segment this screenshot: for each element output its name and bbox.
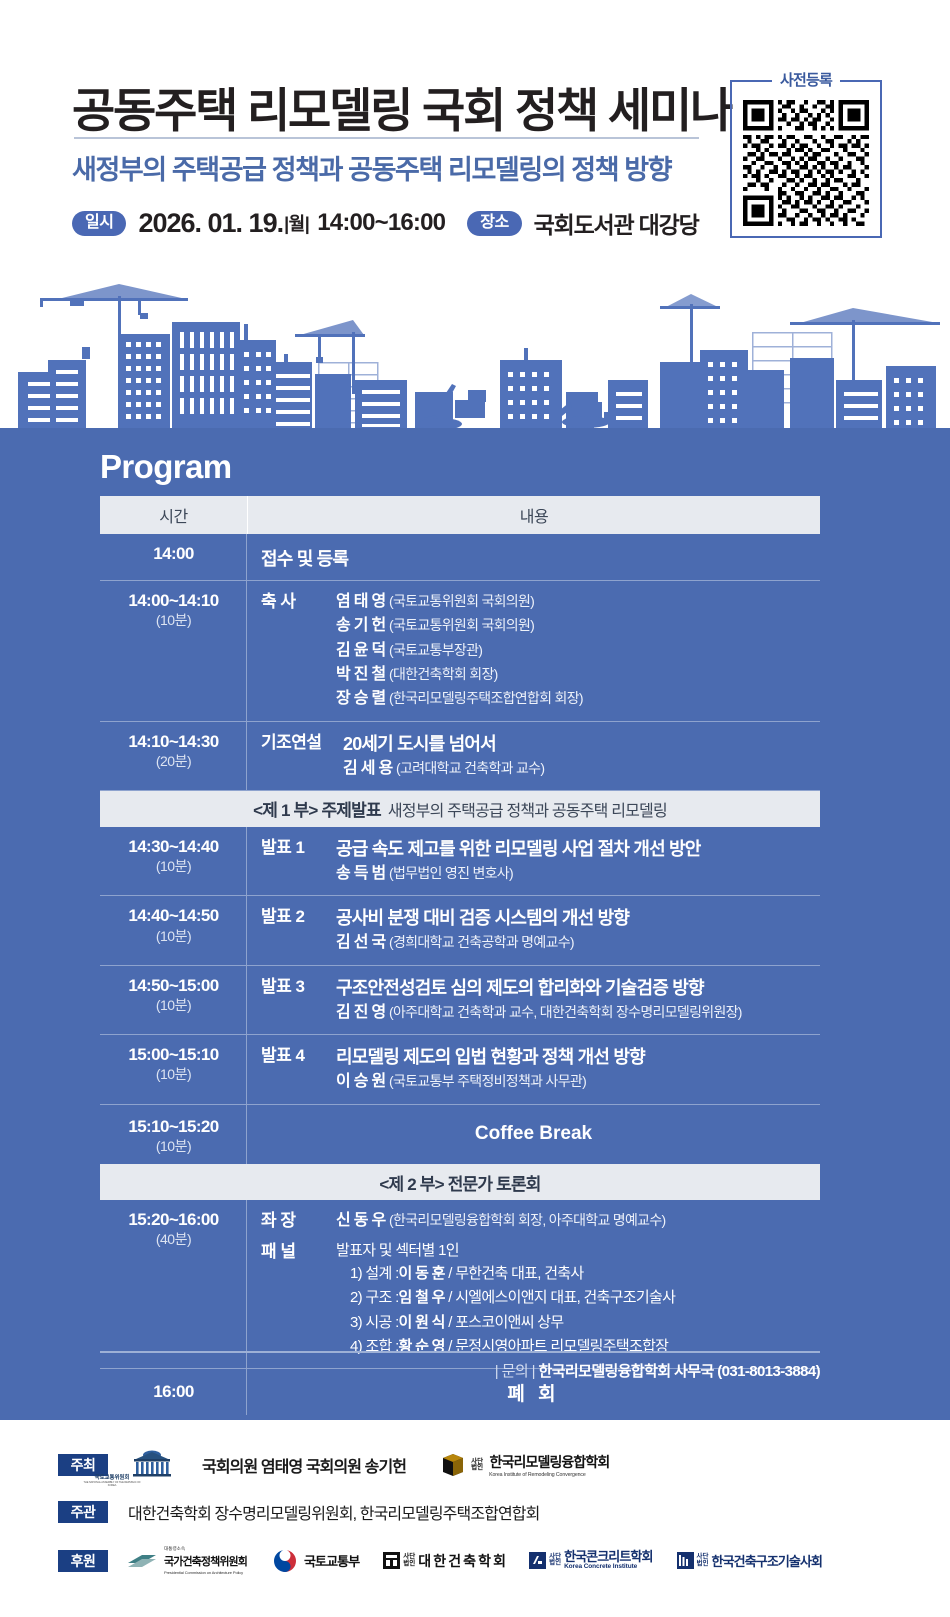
row-kind: 축 사 — [261, 590, 336, 712]
row-content-cell: 기조연설 20세기 도시를 넘어서 김 세 용 (고려대학교 건축학과 교수) — [247, 722, 820, 790]
section-header-part1: <제 1 부> 주제발표 새정부의 주택공급 정책과 공동주택 리모델링 — [100, 791, 820, 827]
row-time-cell: 15:10~15:20 (10분) — [100, 1105, 247, 1164]
chair-detail: 신 동 우 (한국리모델링융합학회 회장, 아주대학교 명예교수) — [336, 1209, 820, 1234]
panelist-line: 2) 구조 :임 철 우 / 시엘에스이앤지 대표, 건축구조기술사 — [350, 1286, 820, 1310]
speaker-name: 김 세 용 — [343, 760, 393, 777]
panelist-line: 1) 설계 :이 동 훈 / 무한건축 대표, 건축사 — [350, 1262, 820, 1286]
row-kind: 발표 1 — [261, 836, 336, 886]
pcap-name-en: Presidential Commission on Architecture … — [164, 1570, 247, 1575]
kirc-name-en: Korea Institute of Remodeling Convergenc… — [489, 1472, 609, 1478]
row-time: 14:10~14:30 — [100, 731, 247, 752]
speaker-affiliation: (법무법인 영진 변호사) — [389, 865, 513, 881]
program-section: Program 시간 내용 14:00 접수 및 등록 14:00~14:10 … — [0, 428, 950, 1420]
talk-title: 리모델링 제도의 입법 현황과 정책 개선 방향 — [336, 1044, 820, 1070]
speaker-line: 김 진 영 (아주대학교 건축학과 교수, 대한건축학회 장수명리모델링위원장) — [336, 1001, 820, 1025]
row-kind: 발표 4 — [261, 1044, 336, 1094]
speaker-line: 김 선 국 (경희대학교 건축공학과 명예교수) — [336, 931, 820, 955]
skyline-svg — [0, 262, 950, 430]
event-weekday: |월| — [284, 210, 309, 236]
table-row: 15:10~15:20 (10분) Coffee Break — [100, 1105, 820, 1164]
row-content-cell: Coffee Break — [247, 1105, 820, 1164]
molit-name: 국토교통부 — [304, 1551, 359, 1570]
row-duration: (10분) — [100, 1065, 247, 1083]
panelist-list: 1) 설계 :이 동 훈 / 무한건축 대표, 건축사 2) 구조 :임 철 우… — [336, 1262, 820, 1359]
section-subtitle: 새정부의 주택공급 정책과 공동주택 리모델링 — [388, 797, 667, 821]
chair-label: 좌 장 — [261, 1209, 336, 1234]
speaker-affiliation: (고려대학교 건축학과 교수) — [396, 760, 544, 776]
panelist-affiliation: / 무한건축 대표, 건축사 — [448, 1265, 583, 1282]
kci-name-en: Korea Concrete Institute — [564, 1564, 652, 1571]
row-talk: 공사비 분쟁 대비 검증 시스템의 개선 방향 김 선 국 (경희대학교 건축공… — [336, 905, 820, 955]
person-affiliation: (국토교통위원회 국회의원) — [389, 593, 534, 609]
panel-block: 패 널 발표자 및 섹터별 1인 1) 설계 :이 동 훈 / 무한건축 대표,… — [261, 1240, 820, 1360]
panel-detail: 발표자 및 섹터별 1인 1) 설계 :이 동 훈 / 무한건축 대표, 건축사… — [336, 1240, 820, 1360]
host-members: 국회의원 염태영 국회의원 송기헌 — [202, 1453, 406, 1477]
kirc-logo: 사단법인 한국리모델링융합학회 Korea Institute of Remod… — [440, 1452, 609, 1478]
section-title: <제 1 부> 주제발표 — [253, 796, 381, 821]
speaker-name: 이 승 원 — [336, 1073, 386, 1090]
table-header-row: 시간 내용 — [100, 496, 820, 534]
row-kind: 발표 3 — [261, 975, 336, 1025]
sadan-badge: 사단법인 — [549, 1554, 561, 1567]
row-time: 15:00~15:10 — [100, 1044, 247, 1065]
row-time-cell: 14:50~15:00 (10분) — [100, 966, 247, 1034]
contact-info: | 문의 | 한국리모델링융합학회 사무국 (031-8013-3884) — [495, 1360, 820, 1381]
person-name: 김 윤 덕 — [336, 642, 386, 659]
row-kind: 기조연설 — [261, 731, 343, 781]
title-divider — [74, 137, 699, 139]
kci-mark-icon — [529, 1552, 546, 1569]
row-time-cell: 14:30~14:40 (10분) — [100, 827, 247, 895]
row-time: 14:30~14:40 — [100, 836, 247, 857]
row-content-cell: 발표 4 리모델링 제도의 입법 현황과 정책 개선 방향 이 승 원 (국토교… — [247, 1035, 820, 1103]
row-time: 14:00 — [100, 543, 247, 564]
chair-name: 신 동 우 — [336, 1212, 386, 1229]
person-line: 장 승 렬 (한국리모델링주택조합연합회 회장) — [336, 687, 820, 711]
pcap-top: 대통령소속 — [164, 1546, 247, 1552]
page-title: 공동주택 리모델링 국회 정책 세미나 — [72, 72, 731, 141]
row-duration: (20분) — [100, 752, 247, 770]
row-content-cell: 좌 장 신 동 우 (한국리모델링융합학회 회장, 아주대학교 명예교수) 패 … — [247, 1200, 820, 1368]
event-venue: 국회도서관 대강당 — [534, 206, 699, 240]
talk-title: 공급 속도 제고를 위한 리모델링 사업 절차 개선 방안 — [336, 836, 820, 862]
person-name: 박 진 철 — [336, 666, 386, 683]
column-header-time: 시간 — [100, 503, 247, 527]
sponsor-logo-pcap: 대통령소속 국가건축정책위원회 Presidential Commission … — [126, 1546, 247, 1575]
talk-title: 20세기 도시를 넘어서 — [343, 731, 820, 757]
chair-line: 신 동 우 (한국리모델링융합학회 회장, 아주대학교 명예교수) — [336, 1209, 820, 1233]
national-assembly-logo: 국토교통위원회 THE NATIONAL ASSEMBLY OF THE REP… — [128, 1448, 176, 1482]
panel-label: 패 널 — [261, 1240, 336, 1360]
contact-text: 한국리모델링융합학회 사무국 (031-8013-3884) — [539, 1363, 820, 1380]
panelist-name: 이 동 훈 — [399, 1265, 445, 1282]
organizer-text: 대한건축학회 장수명리모델링위원회, 한국리모델링주택조합연합회 — [128, 1500, 539, 1524]
page-subtitle: 새정부의 주택공급 정책과 공동주택 리모델링의 정책 방향 — [72, 148, 671, 187]
row-time-cell: 14:00 — [100, 534, 247, 580]
pcap-mark-icon — [126, 1551, 160, 1571]
speaker-affiliation: (경희대학교 건축공학과 명예교수) — [389, 934, 574, 950]
kscea-name: 한국건축구조기술사회 — [712, 1551, 823, 1570]
row-duration: (10분) — [100, 611, 247, 629]
row-time-cell: 15:00~15:10 (10분) — [100, 1035, 247, 1103]
date-label-badge: 일시 — [72, 211, 126, 236]
contact-divider — [100, 1351, 820, 1353]
row-time: 16:00 — [100, 1381, 247, 1402]
kci-name: 한국콘크리트학회 — [564, 1550, 652, 1564]
table-row: 15:20~16:00 (40분) 좌 장 신 동 우 (한국리모델링융합학회 … — [100, 1200, 820, 1369]
panelist-name: 임 철 우 — [399, 1289, 445, 1306]
person-affiliation: (국토교통위원회 국회의원) — [389, 617, 534, 633]
section-title: <제 2 부> 전문가 토론회 — [379, 1170, 540, 1195]
taegeuk-icon — [271, 1547, 299, 1575]
row-time-cell: 14:00~14:10 (10분) — [100, 581, 247, 721]
table-row: 14:10~14:30 (20분) 기조연설 20세기 도시를 넘어서 김 세 … — [100, 722, 820, 791]
row-people-list: 염 태 영 (국토교통위원회 국회의원) 송 기 헌 (국토교통위원회 국회의원… — [336, 590, 820, 712]
place-label-badge: 장소 — [467, 211, 521, 236]
row-content-cell: 발표 2 공사비 분쟁 대비 검증 시스템의 개선 방향 김 선 국 (경희대학… — [247, 896, 820, 964]
row-time: 14:50~15:00 — [100, 975, 247, 996]
row-talk: 구조안전성검토 심의 제도의 합리화와 기술검증 방향 김 진 영 (아주대학교… — [336, 975, 820, 1025]
assembly-caption-en: THE NATIONAL ASSEMBLY OF THE REPUBLIC OF… — [82, 1481, 142, 1487]
panelist-index: 3) 시공 : — [350, 1314, 399, 1331]
contact-prefix: | 문의 | — [495, 1363, 535, 1380]
event-meta: 일시 2026. 01. 19. |월| 14:00~16:00 장소 국회도서… — [72, 206, 699, 240]
row-text: 폐 회 — [247, 1378, 820, 1406]
row-time-cell: 16:00 — [100, 1369, 247, 1415]
table-row: 14:40~14:50 (10분) 발표 2 공사비 분쟁 대비 검증 시스템의… — [100, 896, 820, 965]
pre-registration-qr-block[interactable]: 사전등록 — [730, 80, 882, 238]
table-row: 14:00 접수 및 등록 — [100, 534, 820, 581]
row-time-cell: 14:10~14:30 (20분) — [100, 722, 247, 790]
row-content-cell: 발표 3 구조안전성검토 심의 제도의 합리화와 기술검증 방향 김 진 영 (… — [247, 966, 820, 1034]
panelist-line: 3) 시공 :이 원 식 / 포스코이앤씨 상무 — [350, 1311, 820, 1335]
poster-footer: 주최 국토교통위원회 THE NATIONAL ASSEMBLY OF THE … — [0, 1420, 950, 1617]
row-time: 14:00~14:10 — [100, 590, 247, 611]
event-time: 14:00~16:00 — [317, 209, 445, 237]
row-duration: (10분) — [100, 1137, 247, 1155]
aik-name: 대 한 건 축 학 회 — [418, 1551, 505, 1571]
column-header-content: 내용 — [248, 503, 820, 527]
speaker-line: 김 세 용 (고려대학교 건축학과 교수) — [343, 757, 820, 781]
table-row: 14:30~14:40 (10분) 발표 1 공급 속도 제고를 위한 리모델링… — [100, 827, 820, 896]
panel-intro: 발표자 및 섹터별 1인 — [336, 1240, 820, 1263]
speaker-name: 송 득 범 — [336, 865, 386, 882]
row-duration: (40분) — [100, 1230, 247, 1248]
row-duration: (10분) — [100, 927, 247, 945]
program-table: 시간 내용 14:00 접수 및 등록 14:00~14:10 (10분) 축 … — [100, 496, 820, 1415]
sadan-badge: 사단법인 — [697, 1554, 709, 1567]
sadan-badge: 사단법인 — [471, 1459, 483, 1472]
row-time-cell: 15:20~16:00 (40분) — [100, 1200, 247, 1368]
person-affiliation: (국토교통부장관) — [389, 642, 482, 658]
kscea-mark-icon — [677, 1552, 694, 1569]
row-duration: (10분) — [100, 857, 247, 875]
person-line: 송 기 헌 (국토교통위원회 국회의원) — [336, 614, 820, 638]
panelist-index: 1) 설계 : — [350, 1265, 399, 1282]
sponsor-logo-aik: 사단법인 대 한 건 축 학 회 — [383, 1551, 505, 1571]
construction-skyline-illustration — [0, 262, 950, 430]
row-time: 15:10~15:20 — [100, 1116, 247, 1137]
person-line: 박 진 철 (대한건축학회 회장) — [336, 663, 820, 687]
chair-affiliation: (한국리모델링융합학회 회장, 아주대학교 명예교수) — [389, 1212, 665, 1228]
organizer-tag: 주관 — [58, 1501, 108, 1523]
sponsor-row: 후원 대통령소속 국가건축정책위원회 Presidential Commissi… — [58, 1546, 822, 1575]
table-row: 14:50~15:00 (10분) 발표 3 구조안전성검토 심의 제도의 합리… — [100, 966, 820, 1035]
sponsor-logo-molit: 국토교통부 — [271, 1547, 359, 1575]
row-content-cell: 접수 및 등록 — [247, 534, 820, 580]
row-kind: 발표 2 — [261, 905, 336, 955]
row-talk: 공급 속도 제고를 위한 리모델링 사업 절차 개선 방안 송 득 범 (법무법… — [336, 836, 820, 886]
row-talk: 20세기 도시를 넘어서 김 세 용 (고려대학교 건축학과 교수) — [343, 731, 820, 781]
kirc-mark-icon — [440, 1452, 466, 1478]
qr-label: 사전등록 — [772, 69, 840, 90]
row-duration: (10분) — [100, 996, 247, 1014]
speaker-affiliation: (국토교통부 주택정비정책과 사무관) — [389, 1073, 586, 1089]
row-time-cell: 14:40~14:50 (10분) — [100, 896, 247, 964]
aik-mark-icon — [383, 1552, 400, 1569]
host-row: 주최 국토교통위원회 THE NATIONAL ASSEMBLY OF THE … — [58, 1448, 609, 1482]
talk-title: 구조안전성검토 심의 제도의 합리화와 기술검증 방향 — [336, 975, 820, 1001]
speaker-affiliation: (아주대학교 건축학과 교수, 대한건축학회 장수명리모델링위원장) — [389, 1004, 742, 1020]
person-name: 장 승 렬 — [336, 690, 386, 707]
row-text: 접수 및 등록 — [261, 543, 348, 571]
person-line: 김 윤 덕 (국토교통부장관) — [336, 639, 820, 663]
sponsor-logo-kci: 사단법인 한국콘크리트학회 Korea Concrete Institute — [529, 1550, 652, 1570]
sponsor-logo-kscea: 사단법인 한국건축구조기술사회 — [677, 1551, 823, 1570]
speaker-name: 김 선 국 — [336, 934, 386, 951]
person-affiliation: (대한건축학회 회장) — [389, 666, 498, 682]
panelist-affiliation: / 시엘에스이앤지 대표, 건축구조기술사 — [448, 1289, 675, 1306]
row-text: Coffee Break — [247, 1114, 820, 1155]
row-time: 14:40~14:50 — [100, 905, 247, 926]
pcap-name: 국가건축정책위원회 — [164, 1556, 247, 1568]
speaker-name: 김 진 영 — [336, 1004, 386, 1021]
panelist-index: 2) 구조 : — [350, 1289, 399, 1306]
organizer-row: 주관 대한건축학회 장수명리모델링위원회, 한국리모델링주택조합연합회 — [58, 1500, 539, 1524]
person-name: 염 태 영 — [336, 593, 386, 610]
panelist-name: 이 원 식 — [399, 1314, 445, 1331]
person-affiliation: (한국리모델링주택조합연합회 회장) — [389, 690, 583, 706]
panelist-line: 4) 조합 :황 순 영 / 문정시영아파트 리모델링주택조합장 — [350, 1335, 820, 1359]
row-talk: 리모델링 제도의 입법 현황과 정책 개선 방향 이 승 원 (국토교통부 주택… — [336, 1044, 820, 1094]
sadan-badge: 사단법인 — [403, 1554, 415, 1567]
row-content-cell: 축 사 염 태 영 (국토교통위원회 국회의원) 송 기 헌 (국토교통위원회 … — [247, 581, 820, 721]
qr-code-icon[interactable] — [743, 100, 869, 226]
talk-title: 공사비 분쟁 대비 검증 시스템의 개선 방향 — [336, 905, 820, 931]
table-row: 15:00~15:10 (10분) 발표 4 리모델링 제도의 입법 현황과 정… — [100, 1035, 820, 1104]
panelist-affiliation: / 포스코이앤씨 상무 — [448, 1314, 563, 1331]
row-time: 15:20~16:00 — [100, 1209, 247, 1230]
speaker-line: 이 승 원 (국토교통부 주택정비정책과 사무관) — [336, 1070, 820, 1094]
kirc-name: 한국리모델링융합학회 — [490, 1454, 610, 1470]
poster-header: 공동주택 리모델링 국회 정책 세미나 새정부의 주택공급 정책과 공동주택 리… — [0, 0, 950, 265]
event-date: 2026. 01. 19. — [138, 208, 283, 239]
sponsor-tag: 후원 — [58, 1550, 108, 1572]
table-row: 14:00~14:10 (10분) 축 사 염 태 영 (국토교통위원회 국회의… — [100, 581, 820, 722]
section-header-part2: <제 2 부> 전문가 토론회 — [100, 1164, 820, 1200]
row-content-cell: 발표 1 공급 속도 제고를 위한 리모델링 사업 절차 개선 방안 송 득 범… — [247, 827, 820, 895]
person-line: 염 태 영 (국토교통위원회 국회의원) — [336, 590, 820, 614]
program-heading: Program — [100, 448, 232, 486]
speaker-line: 송 득 범 (법무법인 영진 변호사) — [336, 862, 820, 886]
chair-block: 좌 장 신 동 우 (한국리모델링융합학회 회장, 아주대학교 명예교수) — [261, 1209, 820, 1234]
person-name: 송 기 헌 — [336, 617, 386, 634]
assembly-caption: 국토교통위원회 — [82, 1473, 142, 1481]
